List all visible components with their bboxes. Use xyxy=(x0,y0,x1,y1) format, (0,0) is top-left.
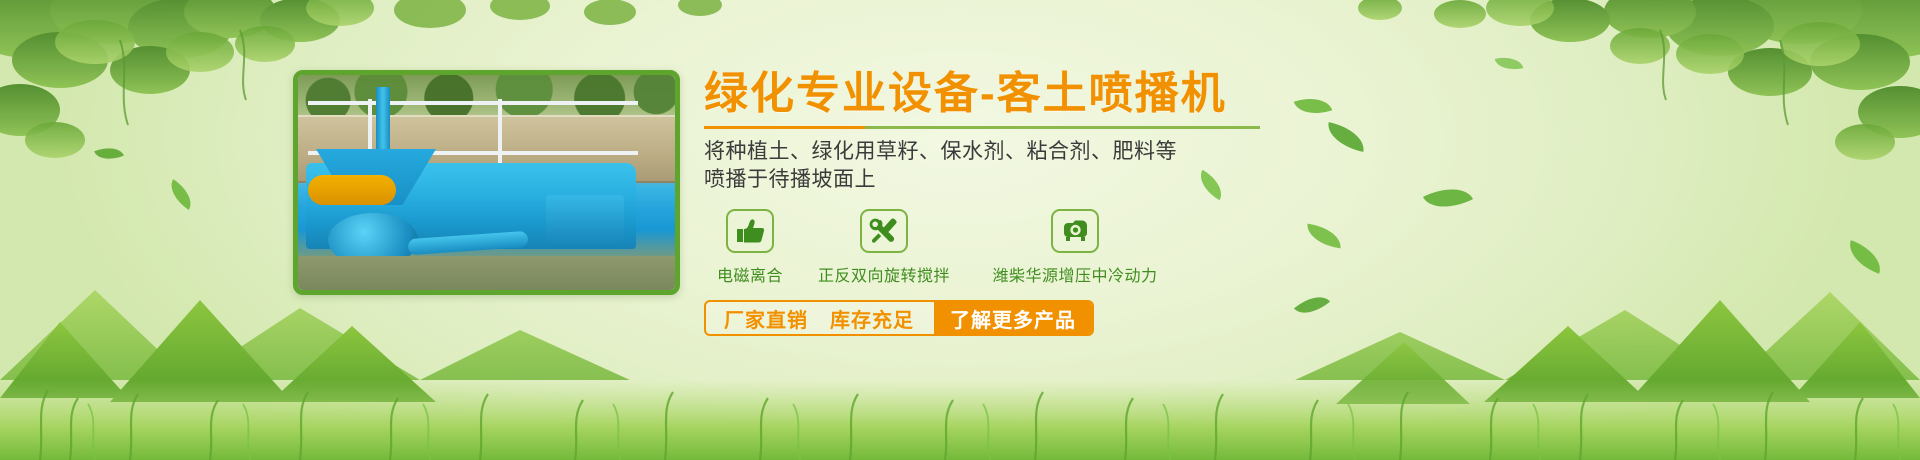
leaf-icon xyxy=(1305,224,1343,249)
feature-item-bidirectional-mixing: 正反双向旋转搅拌 xyxy=(796,209,972,286)
subtitle-line-2: 喷播于待播坡面上 xyxy=(704,166,1304,194)
thumbs-up-icon xyxy=(726,209,774,253)
feature-label: 电磁离合 xyxy=(717,262,783,286)
engine-gear-icon xyxy=(1051,209,1099,253)
feature-item-electromagnetic-clutch: 电磁离合 xyxy=(704,209,796,286)
slogan-group: 厂家直销 库存充足 xyxy=(706,302,934,334)
leaf-icon xyxy=(164,179,198,210)
slogan-factory-direct: 厂家直销 xyxy=(724,304,808,333)
banner-title: 绿化专业设备-客土喷播机 xyxy=(704,68,1304,120)
banner-content: 绿化专业设备-客土喷播机 将种植土、绿化用草籽、保水剂、粘合剂、肥料等 喷播于待… xyxy=(704,68,1304,336)
subtitle-line-1: 将种植土、绿化用草籽、保水剂、粘合剂、肥料等 xyxy=(704,138,1304,166)
feature-label: 正反双向旋转搅拌 xyxy=(818,262,950,286)
feature-item-weichai-power: 潍柴华源增压中冷动力 xyxy=(972,209,1178,286)
action-bar: 厂家直销 库存充足 了解更多产品 xyxy=(704,300,1094,336)
promo-banner: 绿化专业设备-客土喷播机 将种植土、绿化用草籽、保水剂、粘合剂、肥料等 喷播于待… xyxy=(0,0,1920,460)
learn-more-button[interactable]: 了解更多产品 xyxy=(934,302,1092,334)
slogan-stock-sufficient: 库存充足 xyxy=(830,304,914,333)
feature-label: 潍柴华源增压中冷动力 xyxy=(992,262,1157,286)
banner-subtitle: 将种植土、绿化用草籽、保水剂、粘合剂、肥料等 喷播于待播坡面上 xyxy=(704,138,1304,193)
product-photo xyxy=(293,70,680,295)
leaf-icon xyxy=(1495,53,1524,73)
wrench-screwdriver-icon xyxy=(860,209,908,253)
feature-list: 电磁离合 正反双向旋转搅拌 xyxy=(704,209,1304,286)
leaf-icon xyxy=(1843,240,1886,274)
leaf-icon xyxy=(1324,122,1368,152)
product-photo-image xyxy=(298,75,675,290)
leaf-icon xyxy=(1423,178,1473,219)
title-divider xyxy=(704,126,1260,129)
leaf-icon xyxy=(94,142,124,166)
